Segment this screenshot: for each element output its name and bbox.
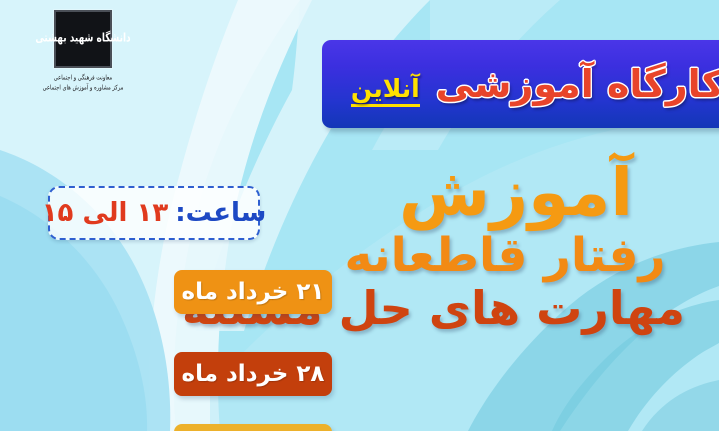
logo-caption: معاونت فرهنگی و اجتماعی مرکز مشاوره و آم… <box>43 73 124 93</box>
date-badge-2: ۲۸ خرداد ماه <box>174 352 332 396</box>
time-badge-value: ۱۳ الی ۱۵ <box>42 198 169 228</box>
time-badge: ساعت: ۱۳ الی ۱۵ <box>48 186 260 240</box>
university-seal-icon: دانشگاه شهید بهشتی <box>54 10 112 68</box>
university-logo: دانشگاه شهید بهشتی معاونت فرهنگی و اجتما… <box>18 10 148 120</box>
date-badge-1: ۲۱ خرداد ماه <box>174 270 332 314</box>
headline-line-3: مهارت های حل مسئله <box>319 285 719 331</box>
time-badge-label: ساعت: <box>175 198 266 228</box>
workshop-banner: کارگاه آموزشی آنلاین <box>322 40 719 128</box>
banner-title: کارگاه آموزشی <box>436 62 719 106</box>
logo-caption-line-2: مرکز مشاوره و آموزش های اجتماعی <box>43 83 124 93</box>
banner-subtitle-online: آنلاین <box>351 74 420 107</box>
headline-line-1: آموزش <box>319 160 719 226</box>
headline-stack: آموزش رفتار قاطعانه مهارت های حل مسئله <box>319 160 719 335</box>
headline-line-2: رفتار قاطعانه <box>319 232 719 279</box>
date-badge-3 <box>174 424 332 431</box>
university-seal-text: دانشگاه شهید بهشتی <box>35 33 130 45</box>
banner-content: کارگاه آموزشی آنلاین <box>336 62 719 107</box>
logo-caption-line-1: معاونت فرهنگی و اجتماعی <box>43 73 124 83</box>
poster-canvas: دانشگاه شهید بهشتی معاونت فرهنگی و اجتما… <box>0 0 719 431</box>
